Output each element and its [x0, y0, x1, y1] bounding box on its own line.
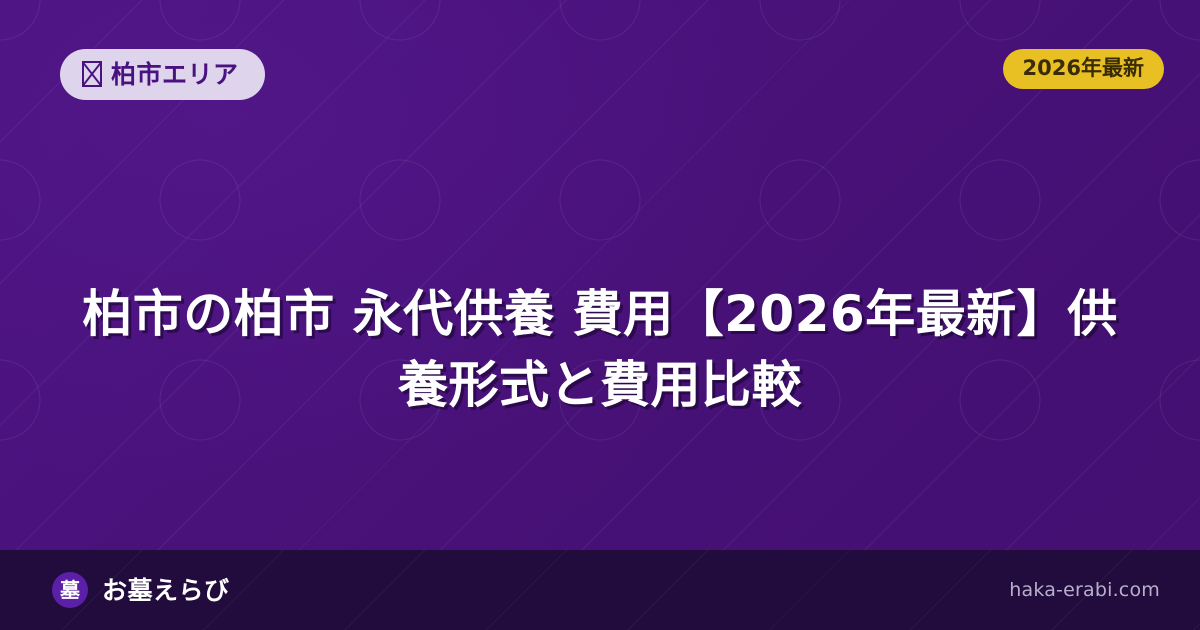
- brand: 墓 お墓えらび: [52, 572, 230, 608]
- brand-name: お墓えらび: [102, 578, 230, 603]
- brand-logo-icon: 墓: [52, 572, 88, 608]
- year-badge: 2026年最新: [1003, 49, 1164, 89]
- title-container: 柏市の柏市 永代供養 費用【2026年最新】供養形式と費用比較: [60, 150, 1140, 550]
- area-badge-label: 柏市エリア: [111, 62, 239, 87]
- area-badge: 柏市エリア: [60, 49, 265, 100]
- og-card: 柏市エリア 2026年最新 柏市の柏市 永代供養 費用【2026年最新】供養形式…: [0, 0, 1200, 630]
- site-url: haka-erabi.com: [1009, 581, 1160, 600]
- footer-bar: 墓 お墓えらび haka-erabi.com: [0, 550, 1200, 630]
- header-row: 柏市エリア 2026年最新: [0, 0, 1200, 150]
- page-title: 柏市の柏市 永代供養 費用【2026年最新】供養形式と費用比較: [80, 279, 1120, 421]
- tofu-missing-glyph-icon: [82, 61, 102, 87]
